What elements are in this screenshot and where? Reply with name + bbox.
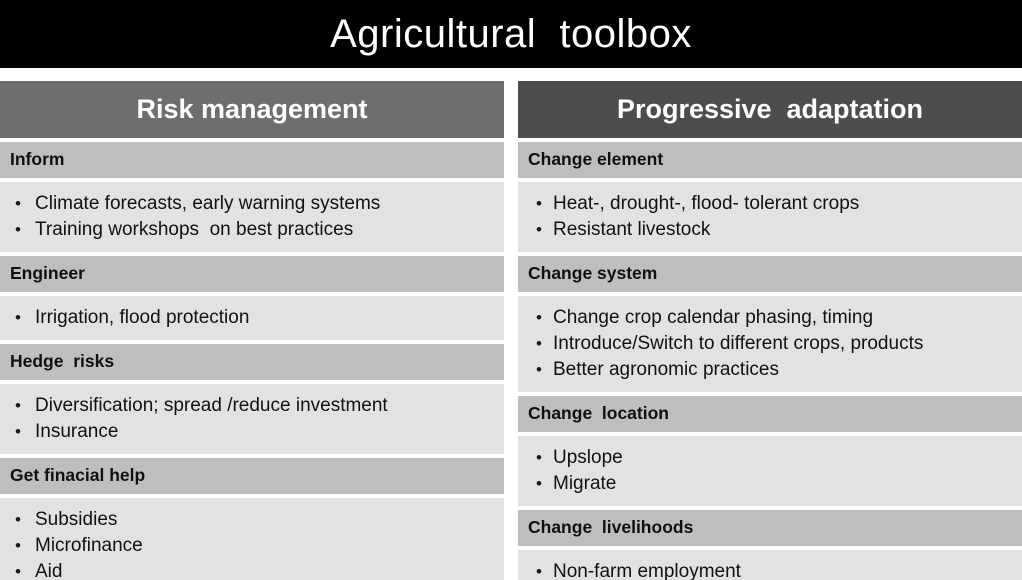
section-heading-label: Change location	[528, 405, 669, 423]
bullet-dot-icon: •	[518, 445, 553, 471]
list-item-label: Insurance	[35, 419, 118, 445]
section-header-hedge-risks: Hedge risks	[0, 344, 504, 380]
section-header-change-livelihoods: Change livelihoods	[518, 510, 1022, 546]
list-item: • Heat-, drought-, flood- tolerant crops	[518, 191, 1022, 217]
bullet-dot-icon: •	[0, 419, 35, 445]
list-item-label: Non-farm employment	[553, 559, 741, 580]
bullet-dot-icon: •	[0, 217, 35, 243]
section-body-hedge-risks: • Diversification; spread /reduce invest…	[0, 384, 504, 454]
section-heading-label: Change element	[528, 151, 663, 169]
list-item-label: Irrigation, flood protection	[35, 305, 249, 331]
list-item: • Upslope	[518, 445, 1022, 471]
bullet-dot-icon: •	[518, 471, 553, 497]
section-heading-label: Hedge risks	[10, 353, 114, 371]
section-body-change-location: • Upslope • Migrate	[518, 436, 1022, 506]
slide-title-bar: Agricultural toolbox	[0, 0, 1022, 68]
section-body-engineer: • Irrigation, flood protection	[0, 296, 504, 340]
list-item: • Non-farm employment	[518, 559, 1022, 580]
list-item-label: Change crop calendar phasing, timing	[553, 305, 873, 331]
list-item-label: Microfinance	[35, 533, 143, 559]
column-header-label: Risk management	[136, 96, 367, 123]
list-item: • Better agronomic practices	[518, 357, 1022, 383]
section-heading-label: Engineer	[10, 265, 85, 283]
section-body-inform: • Climate forecasts, early warning syste…	[0, 182, 504, 252]
page-title: Agricultural toolbox	[330, 14, 692, 54]
column-header-label: Progressive adaptation	[617, 96, 923, 123]
list-item-label: Migrate	[553, 471, 616, 497]
list-item-label: Climate forecasts, early warning systems	[35, 191, 380, 217]
section-header-change-element: Change element	[518, 142, 1022, 178]
section-header-engineer: Engineer	[0, 256, 504, 292]
list-item: • Migrate	[518, 471, 1022, 497]
list-item-label: Heat-, drought-, flood- tolerant crops	[553, 191, 859, 217]
bullet-dot-icon: •	[0, 533, 35, 559]
section-header-change-system: Change system	[518, 256, 1022, 292]
list-item-label: Aid	[35, 559, 62, 580]
section-body-change-element: • Heat-, drought-, flood- tolerant crops…	[518, 182, 1022, 252]
slide-canvas: Agricultural toolbox Risk management Inf…	[0, 0, 1022, 580]
list-item: • Diversification; spread /reduce invest…	[0, 393, 504, 419]
list-item: • Resistant livestock	[518, 217, 1022, 243]
list-item: • Introduce/Switch to different crops, p…	[518, 331, 1022, 357]
column-risk-management: Risk management Inform • Climate forecas…	[0, 81, 504, 580]
bullet-dot-icon: •	[518, 331, 553, 357]
bullet-dot-icon: •	[0, 393, 35, 419]
list-item-label: Subsidies	[35, 507, 117, 533]
list-item: • Training workshops on best practices	[0, 217, 504, 243]
bullet-dot-icon: •	[518, 357, 553, 383]
bullet-dot-icon: •	[0, 507, 35, 533]
list-item: • Microfinance	[0, 533, 504, 559]
list-item: • Change crop calendar phasing, timing	[518, 305, 1022, 331]
bullet-dot-icon: •	[518, 217, 553, 243]
column-progressive-adaptation: Progressive adaptation Change element • …	[518, 81, 1022, 580]
list-item-label: Training workshops on best practices	[35, 217, 353, 243]
list-item: • Insurance	[0, 419, 504, 445]
list-item: • Climate forecasts, early warning syste…	[0, 191, 504, 217]
column-header-risk-management: Risk management	[0, 81, 504, 138]
section-body-change-system: • Change crop calendar phasing, timing •…	[518, 296, 1022, 392]
list-item: • Aid	[0, 559, 504, 580]
bullet-dot-icon: •	[0, 191, 35, 217]
section-header-get-finacial-help: Get finacial help	[0, 458, 504, 494]
section-heading-label: Change livelihoods	[528, 519, 693, 537]
section-heading-label: Change system	[528, 265, 657, 283]
list-item-label: Resistant livestock	[553, 217, 710, 243]
bullet-dot-icon: •	[0, 305, 35, 331]
column-header-progressive-adaptation: Progressive adaptation	[518, 81, 1022, 138]
list-item: • Irrigation, flood protection	[0, 305, 504, 331]
section-body-get-finacial-help: • Subsidies • Microfinance • Aid	[0, 498, 504, 580]
section-header-change-location: Change location	[518, 396, 1022, 432]
list-item: • Subsidies	[0, 507, 504, 533]
bullet-dot-icon: •	[518, 559, 553, 580]
list-item-label: Introduce/Switch to different crops, pro…	[553, 331, 923, 357]
section-header-inform: Inform	[0, 142, 504, 178]
bullet-dot-icon: •	[518, 191, 553, 217]
list-item-label: Diversification; spread /reduce investme…	[35, 393, 388, 419]
list-item-label: Upslope	[553, 445, 623, 471]
bullet-dot-icon: •	[518, 305, 553, 331]
section-heading-label: Get finacial help	[10, 467, 145, 485]
section-body-change-livelihoods: • Non-farm employment	[518, 550, 1022, 580]
bullet-dot-icon: •	[0, 559, 35, 580]
section-heading-label: Inform	[10, 151, 64, 169]
list-item-label: Better agronomic practices	[553, 357, 779, 383]
